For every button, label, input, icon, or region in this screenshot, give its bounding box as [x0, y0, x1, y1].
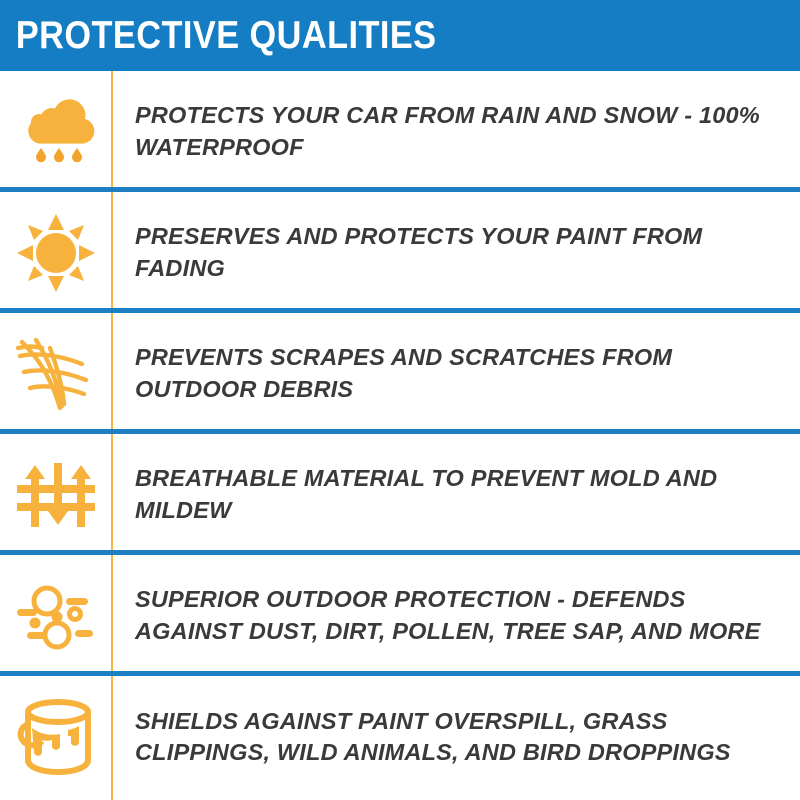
- text-cell: PROTECTS YOUR CAR FROM RAIN AND SNOW - 1…: [111, 100, 800, 163]
- text-cell: PREVENTS SCRAPES AND SCRATCHES FROM OUTD…: [111, 342, 800, 405]
- text-cell: BREATHABLE MATERIAL TO PREVENT MOLD AND …: [111, 463, 800, 526]
- icon-cell: [0, 676, 111, 798]
- list-item-label: PRESERVES AND PROTECTS YOUR PAINT FROM F…: [135, 221, 786, 284]
- list-item-label: SHIELDS AGAINST PAINT OVERSPILL, GRASS C…: [135, 706, 786, 769]
- feature-list: PROTECTS YOUR CAR FROM RAIN AND SNOW - 1…: [0, 71, 800, 798]
- list-item-label: BREATHABLE MATERIAL TO PREVENT MOLD AND …: [135, 463, 786, 526]
- row-divider: [0, 187, 800, 192]
- list-item: SUPERIOR OUTDOOR PROTECTION - DEFENDS AG…: [0, 555, 800, 676]
- list-item: BREATHABLE MATERIAL TO PREVENT MOLD AND …: [0, 434, 800, 555]
- list-item: PREVENTS SCRAPES AND SCRATCHES FROM OUTD…: [0, 313, 800, 434]
- icon-cell: [0, 313, 111, 434]
- sun-icon: [16, 213, 96, 293]
- paint-can-icon: [16, 696, 96, 778]
- page-title: PROTECTIVE QUALITIES: [0, 16, 437, 55]
- scratches-crosshatch-icon: [16, 334, 96, 414]
- row-divider: [0, 308, 800, 313]
- breathable-airflow-arrows-icon: [17, 455, 95, 535]
- icon-cell: [0, 192, 111, 313]
- protective-qualities-infographic: PROTECTIVE QUALITIES PROTECTS YOUR CAR F…: [0, 0, 800, 800]
- list-item: PROTECTS YOUR CAR FROM RAIN AND SNOW - 1…: [0, 71, 800, 192]
- list-item: PRESERVES AND PROTECTS YOUR PAINT FROM F…: [0, 192, 800, 313]
- list-item: SHIELDS AGAINST PAINT OVERSPILL, GRASS C…: [0, 676, 800, 798]
- icon-cell: [0, 71, 111, 192]
- dust-particles-icon: [13, 578, 99, 654]
- row-divider: [0, 550, 800, 555]
- list-item-label: PROTECTS YOUR CAR FROM RAIN AND SNOW - 1…: [135, 100, 786, 163]
- row-divider: [0, 671, 800, 676]
- header-bar: PROTECTIVE QUALITIES: [0, 0, 800, 71]
- row-divider: [0, 429, 800, 434]
- icon-cell: [0, 434, 111, 555]
- list-item-label: PREVENTS SCRAPES AND SCRATCHES FROM OUTD…: [135, 342, 786, 405]
- icon-cell: [0, 555, 111, 676]
- text-cell: SHIELDS AGAINST PAINT OVERSPILL, GRASS C…: [111, 706, 800, 769]
- list-item-label: SUPERIOR OUTDOOR PROTECTION - DEFENDS AG…: [135, 584, 786, 647]
- text-cell: PRESERVES AND PROTECTS YOUR PAINT FROM F…: [111, 221, 800, 284]
- rain-cloud-icon: [17, 95, 95, 169]
- text-cell: SUPERIOR OUTDOOR PROTECTION - DEFENDS AG…: [111, 584, 800, 647]
